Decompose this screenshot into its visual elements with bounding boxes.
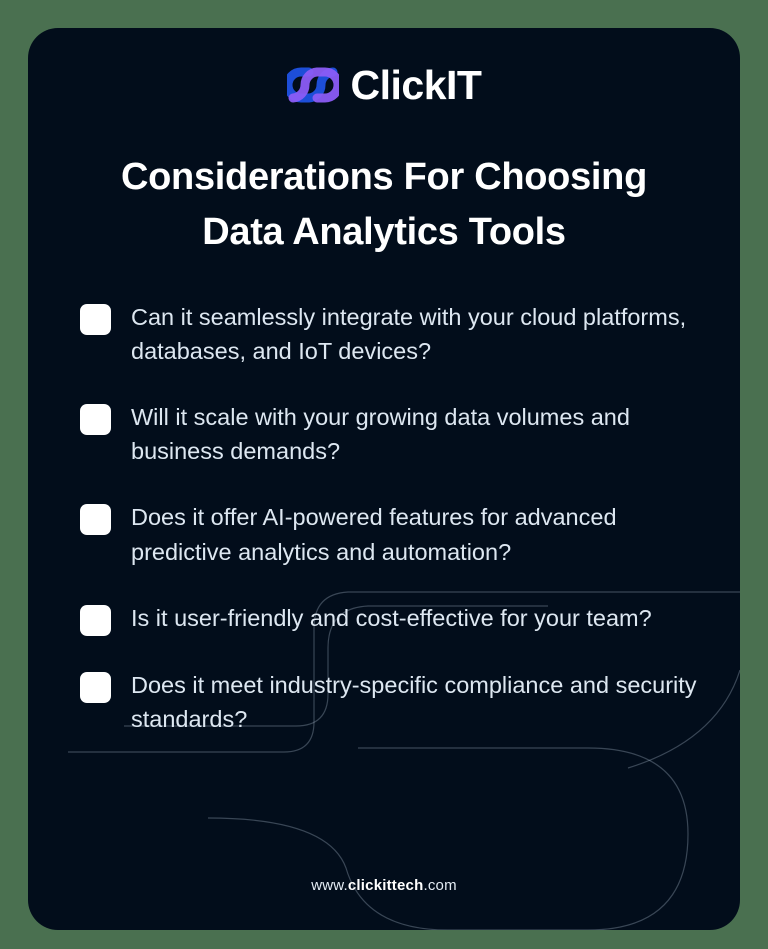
footer-url-domain: clickittech xyxy=(348,877,424,894)
footer-website-url[interactable]: www.clickittech.com xyxy=(28,877,740,894)
checklist-item-label: Is it user-friendly and cost-effective f… xyxy=(131,601,652,635)
checklist-item-label: Does it offer AI-powered features for ad… xyxy=(131,500,701,568)
chain-link-infinity-icon xyxy=(287,64,339,106)
checklist-item-label: Does it meet industry-specific complianc… xyxy=(131,668,701,736)
checklist: Can it seamlessly integrate with your cl… xyxy=(80,300,706,736)
list-item[interactable]: Can it seamlessly integrate with your cl… xyxy=(80,300,706,368)
info-card: ClickIT Considerations For Choosing Data… xyxy=(28,28,740,930)
brand-header: ClickIT xyxy=(28,28,740,106)
list-item[interactable]: Is it user-friendly and cost-effective f… xyxy=(80,601,706,636)
footer-url-suffix: .com xyxy=(423,877,456,894)
card-content: ClickIT Considerations For Choosing Data… xyxy=(28,28,740,930)
empty-checkbox-icon[interactable] xyxy=(80,304,111,335)
checklist-item-label: Can it seamlessly integrate with your cl… xyxy=(131,300,701,368)
empty-checkbox-icon[interactable] xyxy=(80,404,111,435)
list-item[interactable]: Will it scale with your growing data vol… xyxy=(80,400,706,468)
empty-checkbox-icon[interactable] xyxy=(80,672,111,703)
empty-checkbox-icon[interactable] xyxy=(80,504,111,535)
list-item[interactable]: Does it offer AI-powered features for ad… xyxy=(80,500,706,568)
footer-url-prefix: www. xyxy=(311,877,348,894)
empty-checkbox-icon[interactable] xyxy=(80,605,111,636)
brand-name: ClickIT xyxy=(351,65,482,106)
page-title: Considerations For Choosing Data Analyti… xyxy=(76,150,692,260)
list-item[interactable]: Does it meet industry-specific complianc… xyxy=(80,668,706,736)
checklist-item-label: Will it scale with your growing data vol… xyxy=(131,400,701,468)
